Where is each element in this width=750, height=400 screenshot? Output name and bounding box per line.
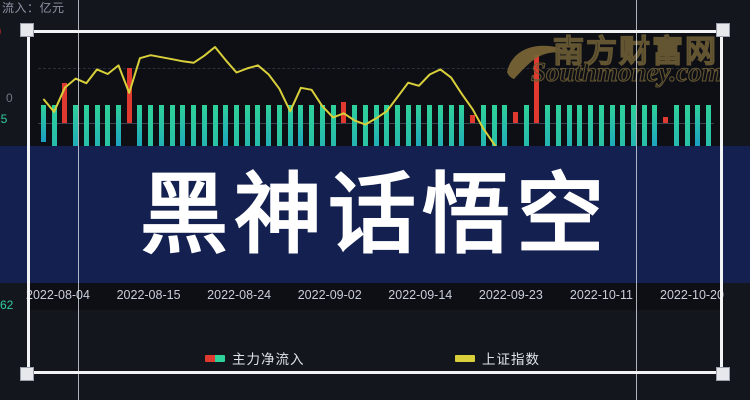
legend-item-net-inflow[interactable]: 主力净流入 bbox=[205, 348, 305, 368]
flow-unit-caption: 流入：亿元 bbox=[2, 0, 65, 16]
capture-guide-left[interactable] bbox=[78, 0, 79, 400]
banner-title-text: 黑神话悟空 bbox=[0, 146, 750, 283]
legend-label-net-inflow: 主力净流入 bbox=[232, 348, 305, 368]
legend-item-index[interactable]: 上证指数 bbox=[455, 348, 540, 368]
x-axis-labels: 2022-08-042022-08-152022-08-242022-09-02… bbox=[30, 284, 720, 310]
chart-legend[interactable]: 主力净流入 上证指数 bbox=[30, 348, 720, 374]
y-axis-tick-label: 0 bbox=[6, 91, 13, 105]
left-red-value-fragment: 9 bbox=[0, 24, 1, 39]
x-axis-tick-label: 2022-08-04 bbox=[26, 288, 90, 302]
x-axis-tick-label: 2022-09-02 bbox=[298, 288, 362, 302]
net-inflow-swatch-icon bbox=[205, 355, 225, 362]
screenshot-canvas: 流入：亿元 9 2022-08-042022-08-152022-08-2420… bbox=[0, 0, 750, 400]
capture-guide-right[interactable] bbox=[636, 0, 637, 400]
x-axis-tick-label: 2022-09-14 bbox=[388, 288, 452, 302]
x-axis-tick-label: 2022-08-24 bbox=[207, 288, 271, 302]
index-swatch-icon bbox=[455, 355, 475, 362]
y-axis-tick-label: 25 bbox=[0, 112, 7, 126]
title-banner: 黑神话悟空 bbox=[0, 146, 750, 283]
x-axis-tick-label: 2022-08-15 bbox=[117, 288, 181, 302]
x-axis-tick-label: 2022-09-23 bbox=[479, 288, 543, 302]
legend-label-index: 上证指数 bbox=[482, 348, 540, 368]
x-axis-tick-label: 2022-10-11 bbox=[570, 288, 633, 302]
x-axis-tick-label: 2022-10-20 bbox=[660, 288, 724, 302]
y-axis-tick-label: 62 bbox=[0, 298, 13, 312]
